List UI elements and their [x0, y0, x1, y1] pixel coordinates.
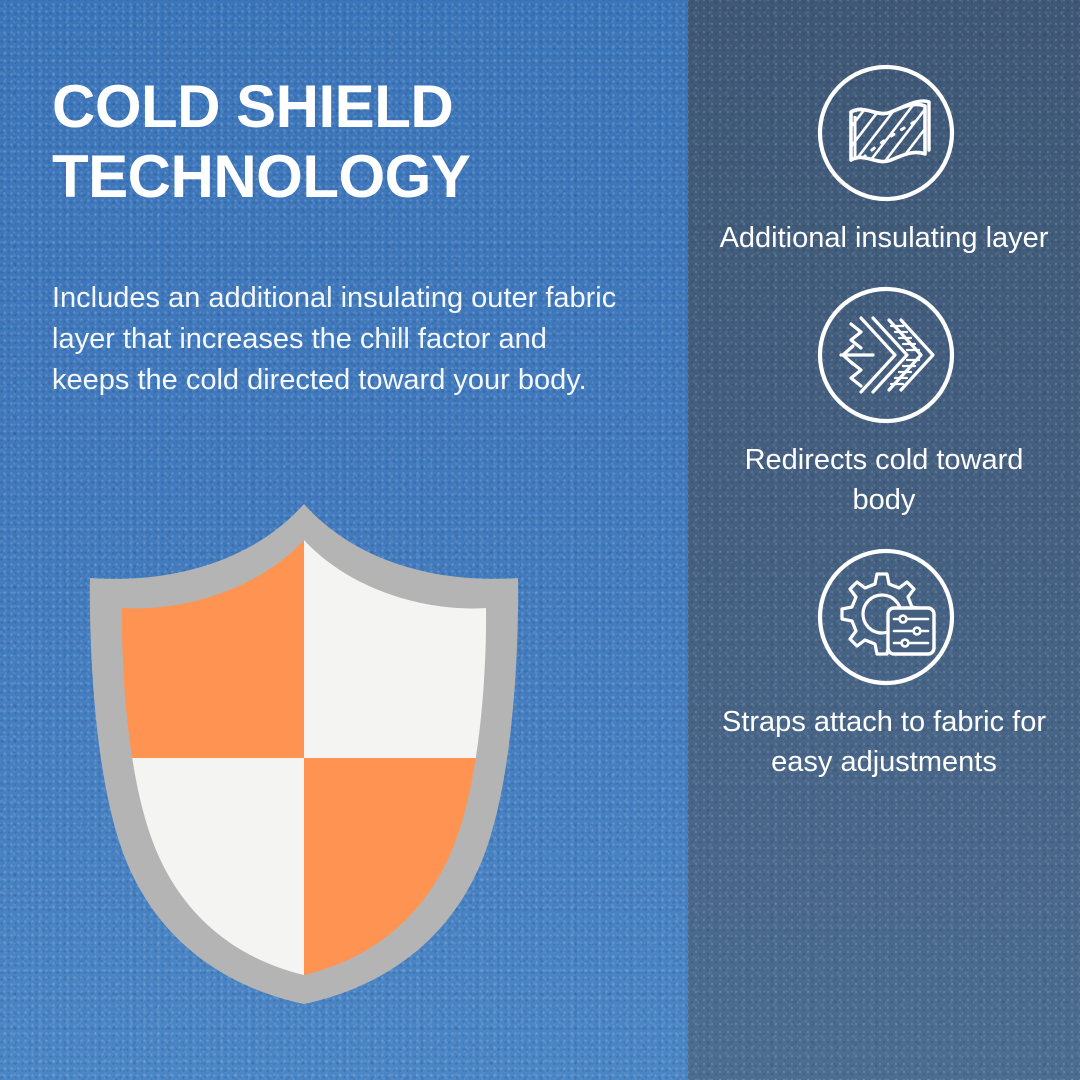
feature-item-redirects-cold: Redirects cold toward body — [688, 284, 1080, 520]
feature-item-straps-adjust: Straps attach to fabric for easy adjustm… — [688, 546, 1080, 782]
left-panel: COLD SHIELD TECHNOLOGY Includes an addit… — [0, 0, 688, 1080]
shield-graphic — [78, 498, 530, 1010]
feature-caption: Straps attach to fabric for easy adjustm… — [719, 702, 1049, 782]
cold-shield-technology-infographic: COLD SHIELD TECHNOLOGY Includes an addit… — [0, 0, 1080, 1080]
feature-caption: Redirects cold toward body — [719, 440, 1049, 520]
feature-item-insulating-layer: Additional insulating layer — [688, 62, 1080, 258]
right-panel: Additional insulating layer — [688, 0, 1080, 1080]
body-paragraph: Includes an additional insulating outer … — [52, 278, 618, 402]
page-title: COLD SHIELD TECHNOLOGY — [52, 72, 632, 211]
shield-quadrants — [78, 498, 530, 1010]
feature-caption: Additional insulating layer — [719, 218, 1049, 258]
layered-chevron-arrows-icon — [815, 284, 957, 426]
fabric-layer-icon — [815, 62, 957, 204]
gear-sliders-icon — [815, 546, 957, 688]
feature-list: Additional insulating layer — [688, 0, 1080, 1080]
